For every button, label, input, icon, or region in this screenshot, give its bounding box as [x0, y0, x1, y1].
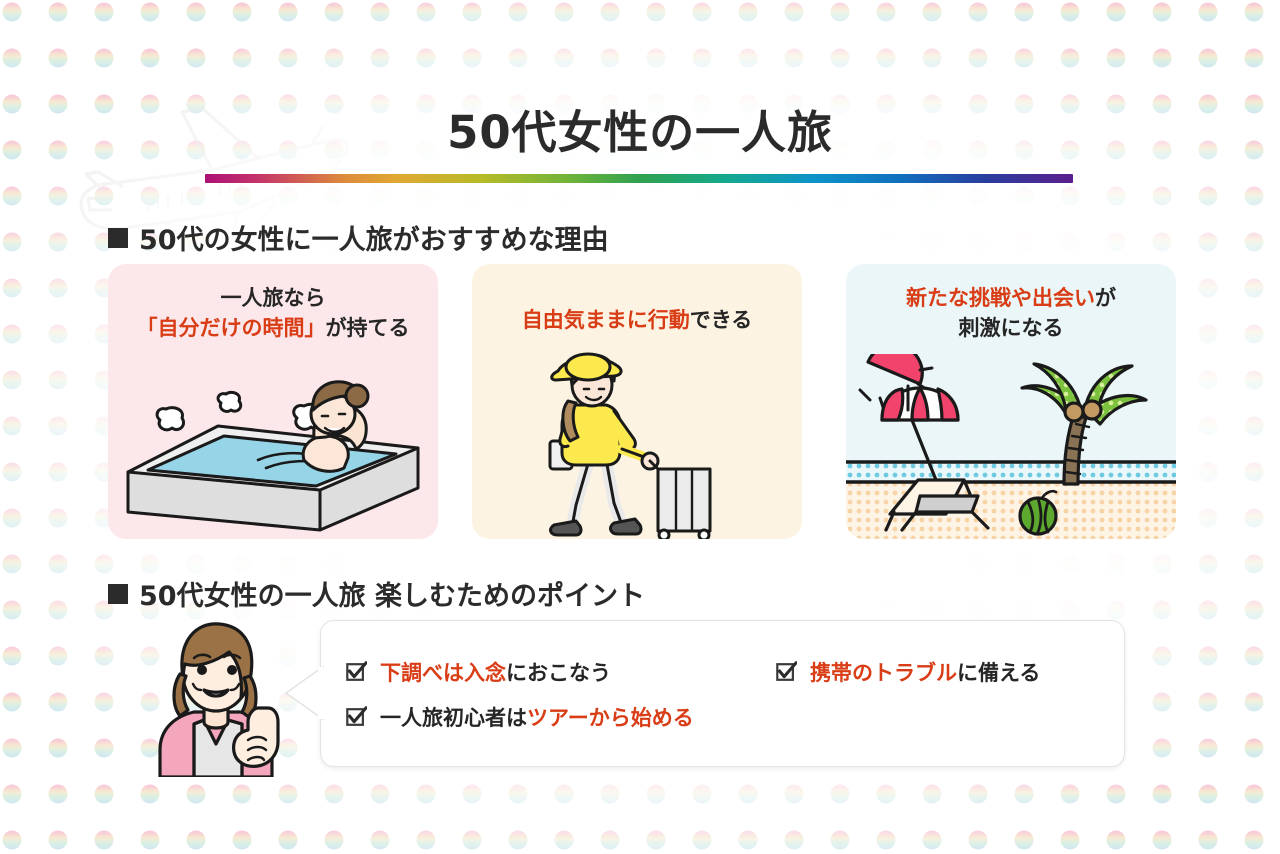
middle-aged-woman-pointing-illustration [150, 612, 325, 777]
reason-card-own-time: 一人旅なら 「自分だけの時間」が持てる [108, 264, 438, 539]
page-title: 50代女性の一人旅 [0, 96, 1280, 161]
title-gradient-rule [205, 174, 1073, 183]
reason-card-new-encounters: 新たな挑戦や出会いが 刺激になる [846, 264, 1176, 539]
point-item-research-highlight: 下調べは入念 [380, 661, 506, 685]
point-item-start-with-tour: 一人旅初心者はツアーから始める [345, 702, 694, 732]
checked-box-icon [345, 706, 367, 728]
section-heading-reasons: 50代の女性に一人旅がおすすめな理由 [108, 218, 609, 257]
beach-resort-illustration [846, 354, 1176, 539]
reason-card-1-highlight: 「自分だけの時間」 [137, 316, 326, 340]
section-heading-points-label: 50代女性の一人旅 楽しむためのポイント [139, 574, 645, 613]
reason-card-2-highlight: 自由気ままに行動 [522, 308, 690, 332]
checked-box-icon [345, 661, 367, 683]
reason-card-3-highlight: 新たな挑戦や出会い [906, 286, 1095, 310]
section-heading-points: 50代女性の一人旅 楽しむためのポイント [108, 574, 645, 613]
square-bullet-icon [108, 228, 128, 248]
point-item-research-text: におこなう [506, 661, 611, 685]
reason-card-3-line1: が [1095, 286, 1116, 310]
point-item-phone-trouble: 携帯のトラブルに備える [775, 657, 1040, 687]
reason-card-2-line2: できる [690, 308, 753, 332]
reason-card-free-action: 自由気ままに行動できる [472, 264, 802, 539]
point-item-phone-trouble-text: に備える [957, 661, 1040, 685]
point-item-start-with-tour-text: 一人旅初心者は [380, 706, 527, 730]
reason-card-3-text: 新たな挑戦や出会いが 刺激になる [846, 264, 1176, 344]
point-item-start-with-tour-highlight: ツアーから始める [527, 706, 694, 730]
reason-card-1-line2: が持てる [326, 316, 410, 340]
point-item-phone-trouble-highlight: 携帯のトラブル [810, 661, 957, 685]
section-heading-reasons-label: 50代の女性に一人旅がおすすめな理由 [139, 218, 609, 257]
checked-box-icon [775, 661, 797, 683]
reason-card-3-line2: 刺激になる [959, 316, 1064, 340]
point-item-research: 下調べは入念におこなう [345, 657, 611, 687]
woman-with-suitcase-illustration [472, 349, 802, 539]
woman-in-bathtub-illustration [108, 364, 438, 539]
reason-card-2-text: 自由気ままに行動できる [472, 264, 802, 336]
reason-card-1-line1: 一人旅なら [221, 286, 326, 310]
points-speech-bubble-panel [320, 620, 1125, 767]
square-bullet-icon [108, 584, 128, 604]
reason-card-1-text: 一人旅なら 「自分だけの時間」が持てる [108, 264, 438, 344]
